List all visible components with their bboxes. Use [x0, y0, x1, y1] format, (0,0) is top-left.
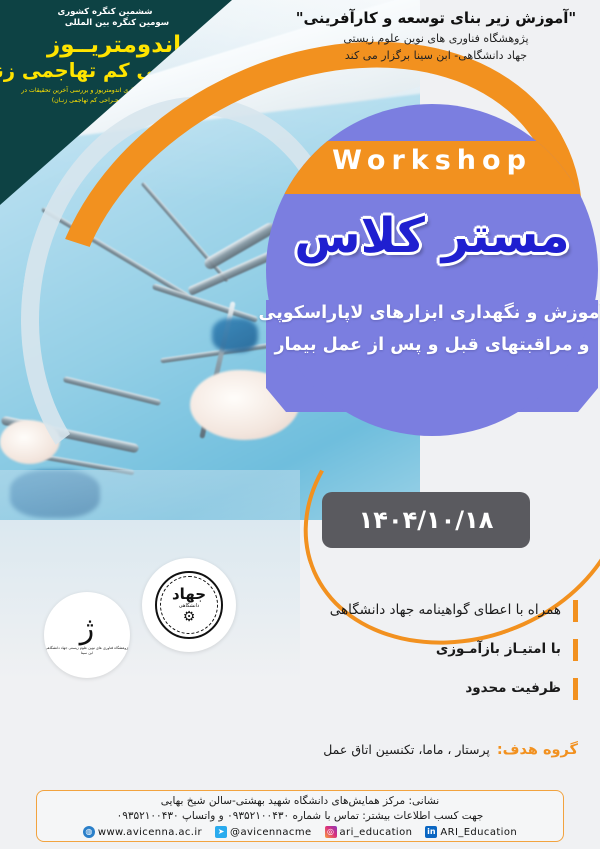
workshop-headline: مستر کلاس: [266, 208, 598, 264]
target-group-label: گروه هدف:: [497, 742, 578, 758]
bullet-marker: [573, 639, 578, 661]
website-handle: www.avicenna.ac.ir: [98, 827, 202, 838]
list-item: با امتیـاز بازآمـوزی: [248, 639, 578, 661]
workshop-circle: Workshop مستر کلاس: [266, 104, 598, 436]
workshop-subtitles: آموزش و نگهداری ابزارهای لاپاراسکوپی و م…: [258, 305, 600, 368]
list-item: ظرفیت محدود: [248, 678, 578, 700]
event-date-badge: ۱۴۰۴/۱۰/۱۸: [322, 492, 530, 548]
avicenna-logo-caption: پژوهشگاه فناوری های نوین علوم زیستی جهاد…: [44, 646, 130, 657]
footer-contact-box: نشانی: مرکز همایش‌های دانشگاه شهید بهشتی…: [36, 790, 564, 842]
avicenna-logo-mark: ژ: [80, 614, 95, 644]
poster-root: ششمین کنگره کشوری سومین کنگره بین المللی…: [0, 0, 600, 849]
organizer-line-2: پژوهشگاه فناوری های نوین علوم زیستی: [286, 31, 586, 48]
workshop-subtitle-2: و مراقبتهای قبل و پس از عمل بیمار: [258, 337, 600, 355]
instagram-handle: ari_education: [340, 827, 413, 838]
telegram-link[interactable]: ➤ @avicennacme: [215, 826, 311, 838]
jahad-logo-word: جهاد: [172, 587, 206, 602]
jahad-daneshgahi-logo: جهاد دانشگاهی ⚙: [142, 558, 236, 652]
bullet-marker: [573, 678, 578, 700]
benefits-list: همراه با اعطای گواهینامه جهاد دانشگاهی ب…: [248, 600, 578, 717]
organizer-slogan: "آموزش زیر بنای توسعه و کارآفرینی": [286, 8, 586, 28]
congress-line-2: سومین کنگره بین المللی: [6, 17, 228, 29]
target-group-row: گروه هدف: پرستار ، ماما، تکنسین اتاق عمل: [228, 742, 578, 758]
telegram-icon: ➤: [215, 826, 227, 838]
social-links: ◍ www.avicenna.ac.ir ➤ @avicennacme ◎ ar…: [47, 826, 553, 838]
jahad-logo-ring: جهاد دانشگاهی ⚙: [155, 571, 223, 639]
linkedin-icon: in: [425, 826, 437, 838]
bullet-marker: [573, 600, 578, 622]
avicenna-research-institute-logo: ژ پژوهشگاه فناوری های نوین علوم زیستی جه…: [44, 592, 130, 678]
instagram-icon: ◎: [325, 826, 337, 838]
workshop-subtitle-1: آموزش و نگهداری ابزارهای لاپاراسکوپی: [258, 305, 600, 323]
telegram-handle: @avicennacme: [230, 827, 311, 838]
globe-icon: ◍: [83, 826, 95, 838]
list-item: همراه با اعطای گواهینامه جهاد دانشگاهی: [248, 600, 578, 622]
website-link[interactable]: ◍ www.avicenna.ac.ir: [83, 826, 202, 838]
benefit-text: با امتیـاز بازآمـوزی: [436, 641, 561, 659]
jahad-logo-sub: دانشگاهی: [179, 603, 200, 609]
linkedin-link[interactable]: in ARI_Education: [425, 826, 517, 838]
linkedin-handle: ARI_Education: [440, 827, 517, 838]
workshop-banner-label: Workshop: [266, 145, 598, 176]
footer-address: نشانی: مرکز همایش‌های دانشگاه شهید بهشتی…: [47, 794, 553, 809]
benefit-text: ظرفیت محدود: [465, 680, 561, 698]
organizer-line-3: جهاد دانشگاهی- ابن سینا برگزار می کند: [286, 48, 586, 65]
target-group-value: پرستار ، ماما، تکنسین اتاق عمل: [323, 742, 490, 757]
gear-icon: ⚙: [183, 610, 196, 624]
organizer-header: "آموزش زیر بنای توسعه و کارآفرینی" پژوهش…: [286, 8, 586, 64]
benefit-text: همراه با اعطای گواهینامه جهاد دانشگاهی: [330, 602, 561, 620]
footer-contact: جهت کسب اطلاعات بیشتر: تماس با شماره ۰۹۳…: [47, 809, 553, 824]
event-date-value: ۱۴۰۴/۱۰/۱۸: [359, 506, 494, 534]
instagram-link[interactable]: ◎ ari_education: [325, 826, 413, 838]
